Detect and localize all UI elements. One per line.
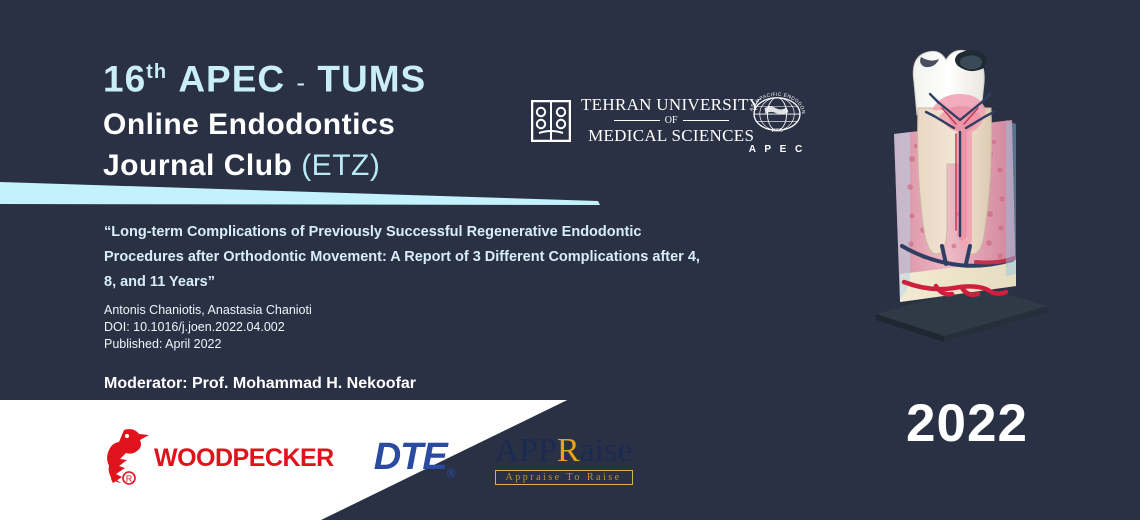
tums-of-row: OF xyxy=(581,115,761,126)
tums-line-2: MEDICAL SCIENCES xyxy=(588,126,754,145)
title-separator: - xyxy=(296,67,306,97)
time-gmt: 13:00 xyxy=(883,462,927,481)
apec-label: A P E C xyxy=(744,144,810,155)
event-month-day: July 15 xyxy=(911,362,1010,390)
article-info: “Long-term Complications of Previously S… xyxy=(104,220,704,393)
event-day-suffix: th xyxy=(1010,362,1023,378)
sponsor-dte: DTE® xyxy=(374,436,455,481)
woodpecker-wordmark: WOODPECKER xyxy=(154,444,334,473)
event-year: 2022 xyxy=(872,394,1062,456)
appraise-tagline: Appraise To Raise xyxy=(495,470,633,485)
tums-of-label: OF xyxy=(665,115,678,126)
sponsor-logos: R WOODPECKER DTE® APPRaise Appraise To R… xyxy=(100,425,633,492)
article-title: “Long-term Complications of Previously S… xyxy=(104,220,704,295)
event-day: July 15th xyxy=(872,355,1062,391)
appraise-wordmark: APPRaise xyxy=(495,433,633,469)
globe-icon: 1995 ASIA PACIFIC ENDODONTIC CONFEDERATI… xyxy=(744,125,810,142)
tums-logo: TEHRAN UNIVERSITY OF MEDICAL SCIENCES xyxy=(531,95,761,146)
iran-label: IRAN xyxy=(1018,465,1051,480)
woodpecker-bird-icon: R xyxy=(100,425,150,492)
svg-text:1995: 1995 xyxy=(771,128,783,134)
moderator-line: Moderator: Prof. Mohammad H. Nekoofar xyxy=(104,375,704,393)
tums-line-1: TEHRAN UNIVERSITY xyxy=(581,95,761,114)
org-secondary: TUMS xyxy=(317,58,426,99)
appraise-part-2: R xyxy=(557,432,580,469)
event-date-block: July 15th 2022 13:00 GMT-17:30 IRAN xyxy=(872,355,1062,482)
dte-registered-mark: ® xyxy=(447,467,455,481)
article-published-date: Published: April 2022 xyxy=(104,336,704,353)
gmt-label: GMT xyxy=(932,465,962,480)
time-iran: 17:30 xyxy=(969,462,1013,481)
journal-club-label: Journal Club xyxy=(103,149,292,182)
edition-number: 16 xyxy=(103,58,146,99)
event-poster: 16th APEC - TUMS Online Endodontics Jour… xyxy=(0,0,1140,520)
open-book-icon xyxy=(531,100,571,142)
edition-suffix: th xyxy=(146,61,167,83)
event-title-line-3: Journal Club (ETZ) xyxy=(103,145,623,186)
apec-logo: 1995 ASIA PACIFIC ENDODONTIC CONFEDERATI… xyxy=(744,92,810,155)
appraise-part-3: aise xyxy=(580,432,633,469)
article-authors: Antonis Chaniotis, Anastasia Chanioti xyxy=(104,302,704,319)
sponsor-woodpecker: R WOODPECKER xyxy=(100,425,334,492)
tums-wordmark: TEHRAN UNIVERSITY OF MEDICAL SCIENCES xyxy=(581,95,761,146)
dte-label: DTE xyxy=(374,436,447,478)
tooth-model-image xyxy=(866,24,1056,344)
dte-wordmark: DTE® xyxy=(374,436,455,478)
svg-text:R: R xyxy=(126,474,133,484)
event-time: 13:00 GMT-17:30 IRAN xyxy=(872,462,1062,482)
etz-label: (ETZ) xyxy=(301,149,380,182)
article-doi: DOI: 10.1016/j.joen.2022.04.002 xyxy=(104,319,704,336)
appraise-part-1: APP xyxy=(495,432,557,469)
sponsor-appraise: APPRaise Appraise To Raise xyxy=(495,433,633,485)
org-primary: APEC xyxy=(178,58,285,99)
